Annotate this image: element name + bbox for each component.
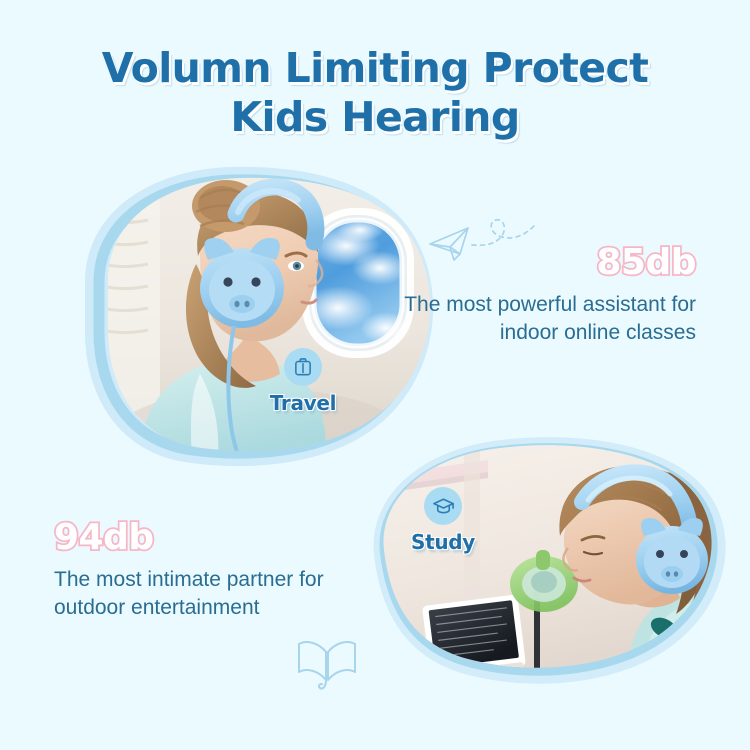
title-line-1: Volumn Limiting Protect <box>102 44 648 92</box>
badge-study-label: Study <box>393 530 493 554</box>
db-value-94: 94db <box>54 518 350 558</box>
paper-plane-icon <box>420 212 540 278</box>
title-line-2: Kids Hearing <box>0 93 750 142</box>
graduation-cap-icon <box>432 495 455 518</box>
travel-photo <box>50 160 450 460</box>
badge-study: Study <box>393 487 493 554</box>
badge-travel-label: Travel <box>253 391 353 415</box>
travel-photo-card: Travel <box>50 160 450 460</box>
badge-icon-circle <box>284 348 322 386</box>
paper-plane-decoration <box>420 212 540 283</box>
db-description-94: The most intimate partner for outdoor en… <box>54 566 350 622</box>
feature-block-94db: 94db The most intimate partner for outdo… <box>54 518 350 622</box>
badge-travel: Travel <box>253 348 353 415</box>
open-book-decoration <box>292 636 362 703</box>
suitcase-icon <box>292 356 314 378</box>
infographic-canvas: Volumn Limiting Protect Kids Hearing <box>0 0 750 750</box>
study-photo-card: Study <box>368 432 718 682</box>
study-photo <box>368 432 718 682</box>
page-title: Volumn Limiting Protect Kids Hearing <box>0 44 750 142</box>
badge-icon-circle-2 <box>424 487 462 525</box>
open-book-icon <box>292 636 362 698</box>
db-description-85: The most powerful assistant for indoor o… <box>400 291 696 347</box>
